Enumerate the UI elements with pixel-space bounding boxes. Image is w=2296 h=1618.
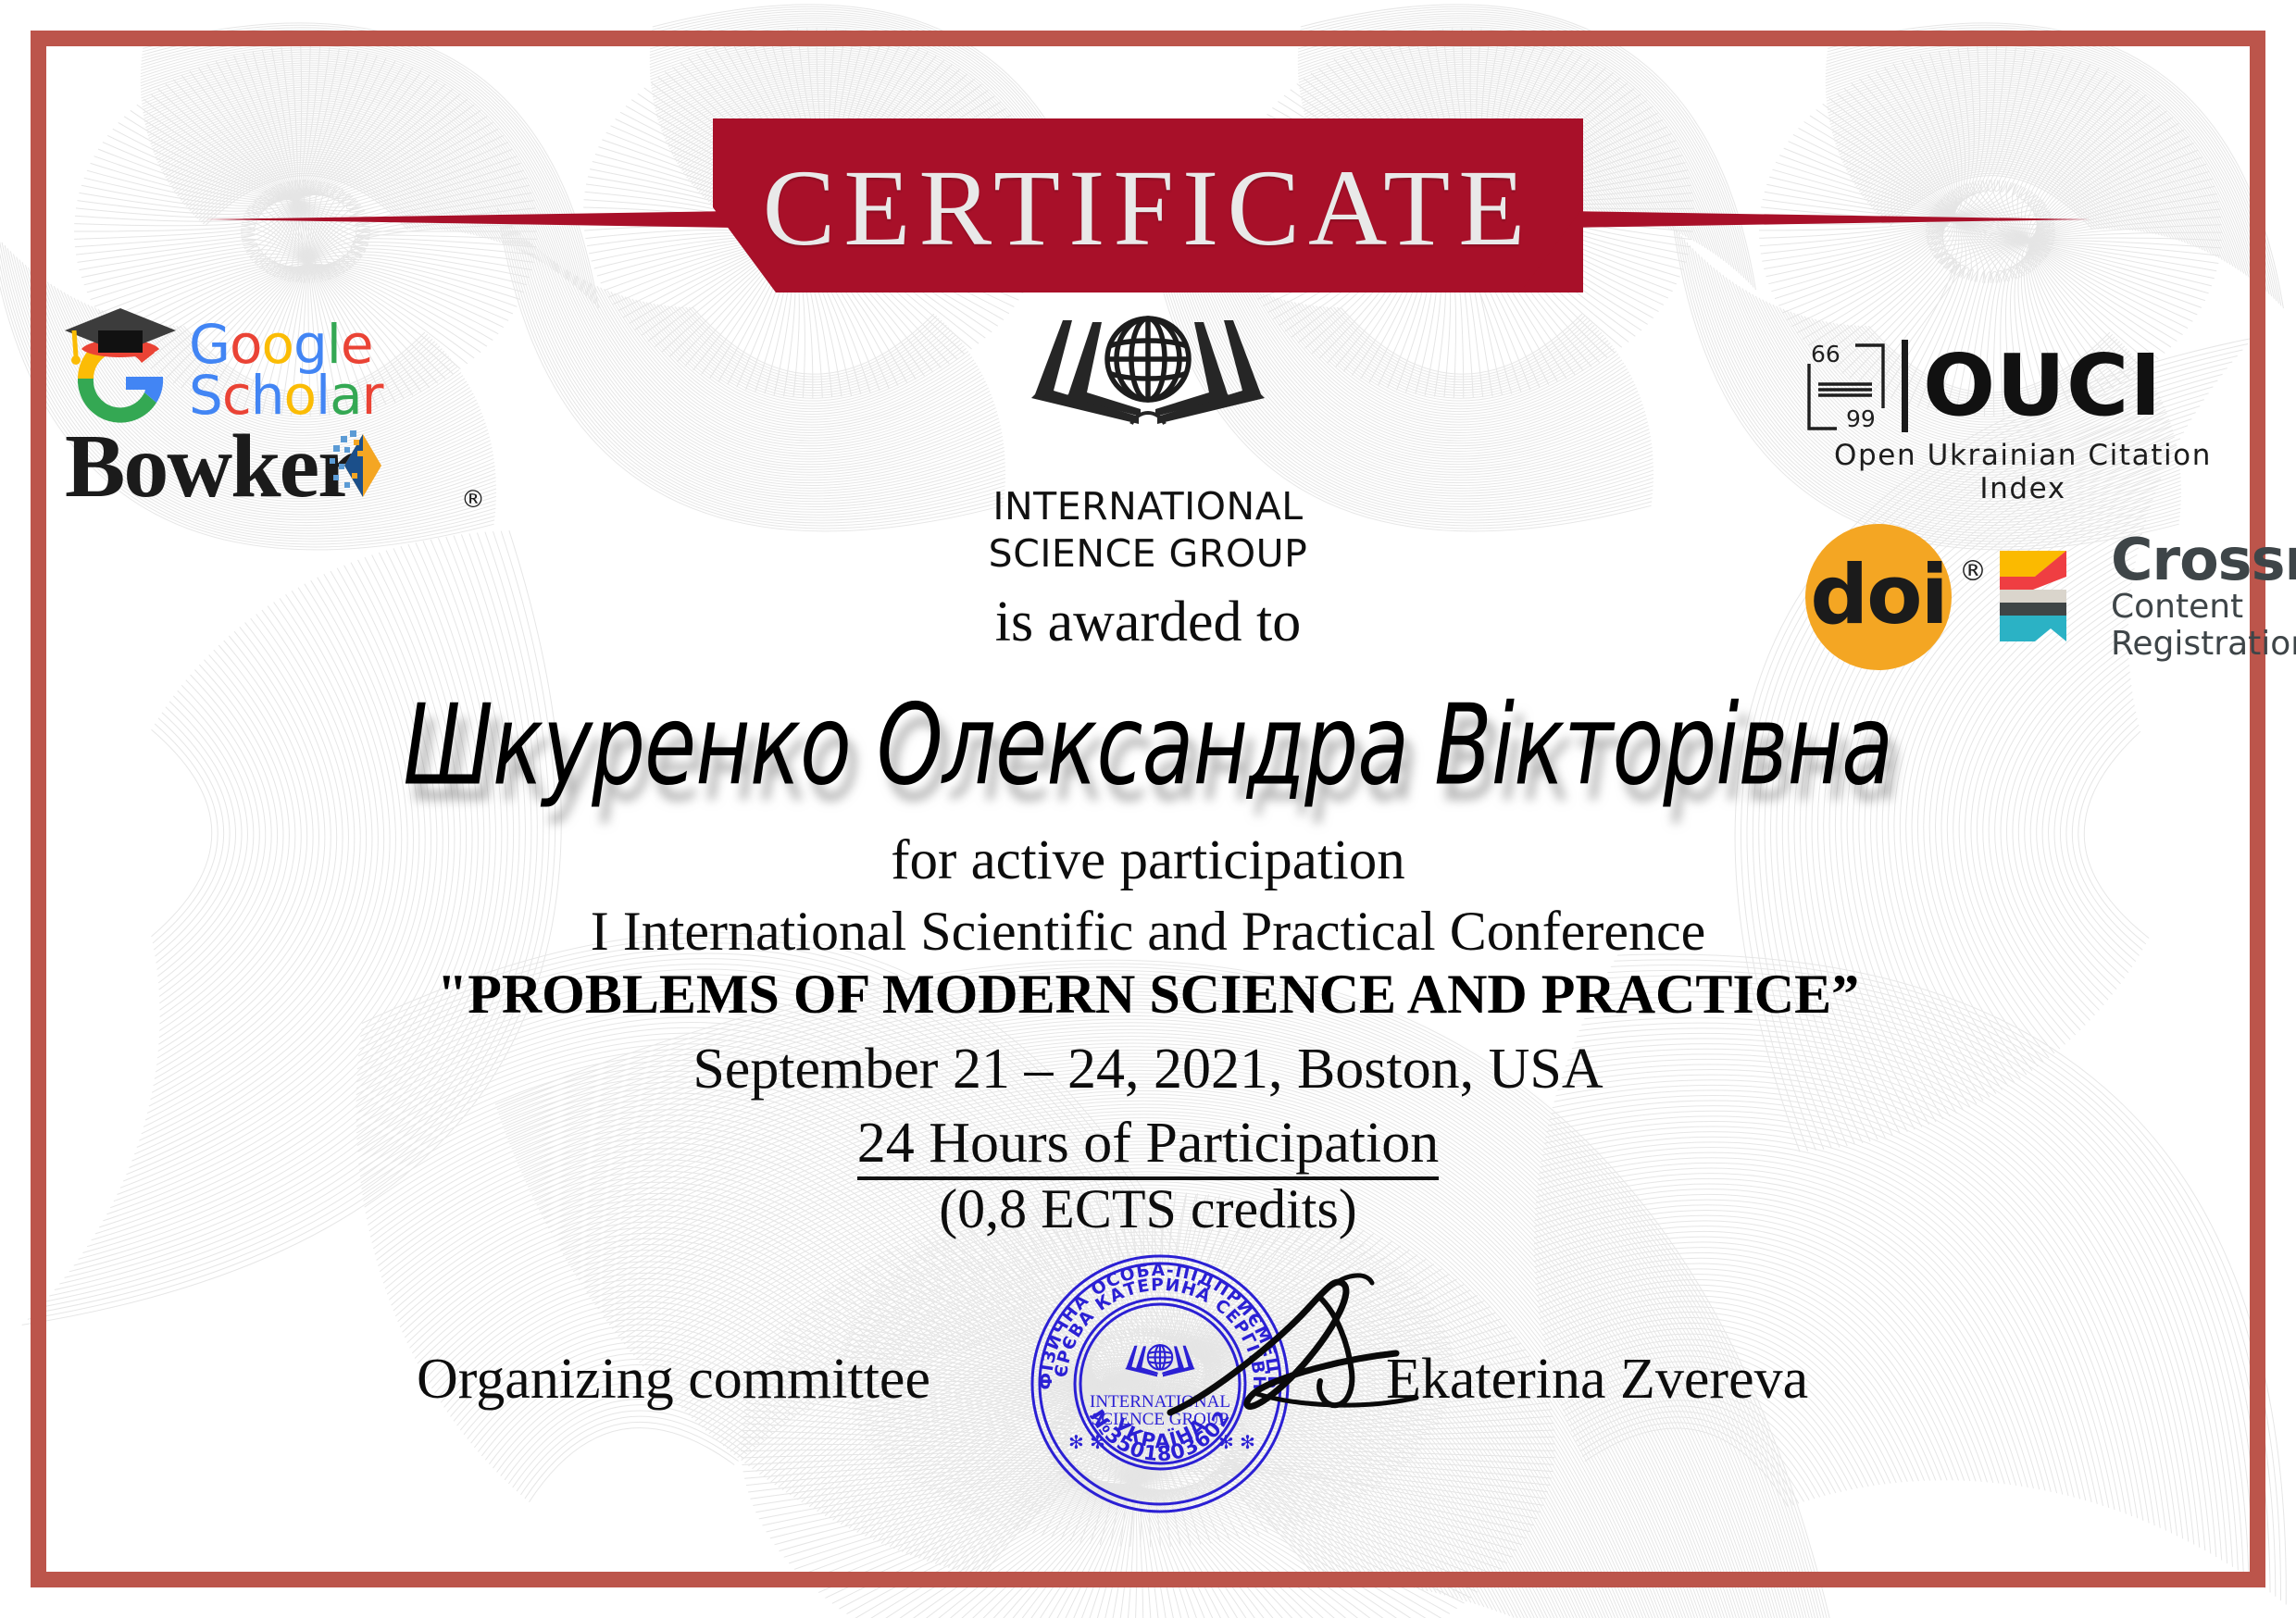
isg-name: INTERNATIONAL SCIENCE GROUP xyxy=(989,483,1308,579)
certificate-page: CERTIFICATE xyxy=(0,0,2296,1618)
citation-quote-icon: 66 99 xyxy=(1805,340,1887,432)
participation-text: for active participation xyxy=(0,828,2296,893)
handwritten-signature xyxy=(1139,1257,1426,1488)
title-ribbon: CERTIFICATE xyxy=(0,118,2296,308)
crossref-brand: Crossref xyxy=(2111,531,2296,589)
conference-name: I International Scientific and Practical… xyxy=(0,900,2296,964)
quote-close-digits: 99 xyxy=(1846,405,1876,432)
isg-line-2: SCIENCE GROUP xyxy=(989,530,1308,578)
ouci-acronym: OUCI xyxy=(1923,343,2163,429)
open-book-globe-icon xyxy=(1009,305,1287,479)
ribbon-tail-left-icon xyxy=(206,211,733,228)
isg-line-1: INTERNATIONAL xyxy=(989,483,1308,530)
recipient-name: Шкуренко Олександра Вікторівна xyxy=(404,680,1893,810)
organizing-committee-label: Organizing committee xyxy=(417,1347,930,1413)
page-title: CERTIFICATE xyxy=(713,118,1583,292)
ouci-logo: 66 99 OUCI xyxy=(1805,335,2240,437)
ribbon-body: CERTIFICATE xyxy=(713,118,1583,292)
hours-underlined-text: 24 Hours of Participation xyxy=(857,1112,1440,1180)
ouci-divider xyxy=(1902,340,1908,432)
hours-of-participation: 24 Hours of Participation xyxy=(0,1111,2296,1176)
doi-registered-mark: ® xyxy=(1959,524,1987,588)
recipient-name-wrap: Шкуренко Олександра Вікторівна xyxy=(0,680,2296,784)
awarded-to-label: is awarded to xyxy=(0,590,2296,655)
quote-open-digits: 66 xyxy=(1811,341,1841,367)
ects-credits: (0,8 ECTS credits) xyxy=(0,1177,2296,1241)
stamp-stars-left: ✻ ✻ xyxy=(1068,1431,1105,1453)
signer-name: Ekaterina Zvereva xyxy=(1386,1347,1808,1413)
ribbon-tail-right-icon xyxy=(1563,211,2090,228)
conference-theme: "PROBLEMS OF MODERN SCIENCE AND PRACTICE… xyxy=(0,963,2296,1027)
date-and-place: September 21 – 24, 2021, Boston, USA xyxy=(0,1037,2296,1102)
ouci-subtitle: Open Ukrainian Citation Index xyxy=(1805,439,2240,505)
